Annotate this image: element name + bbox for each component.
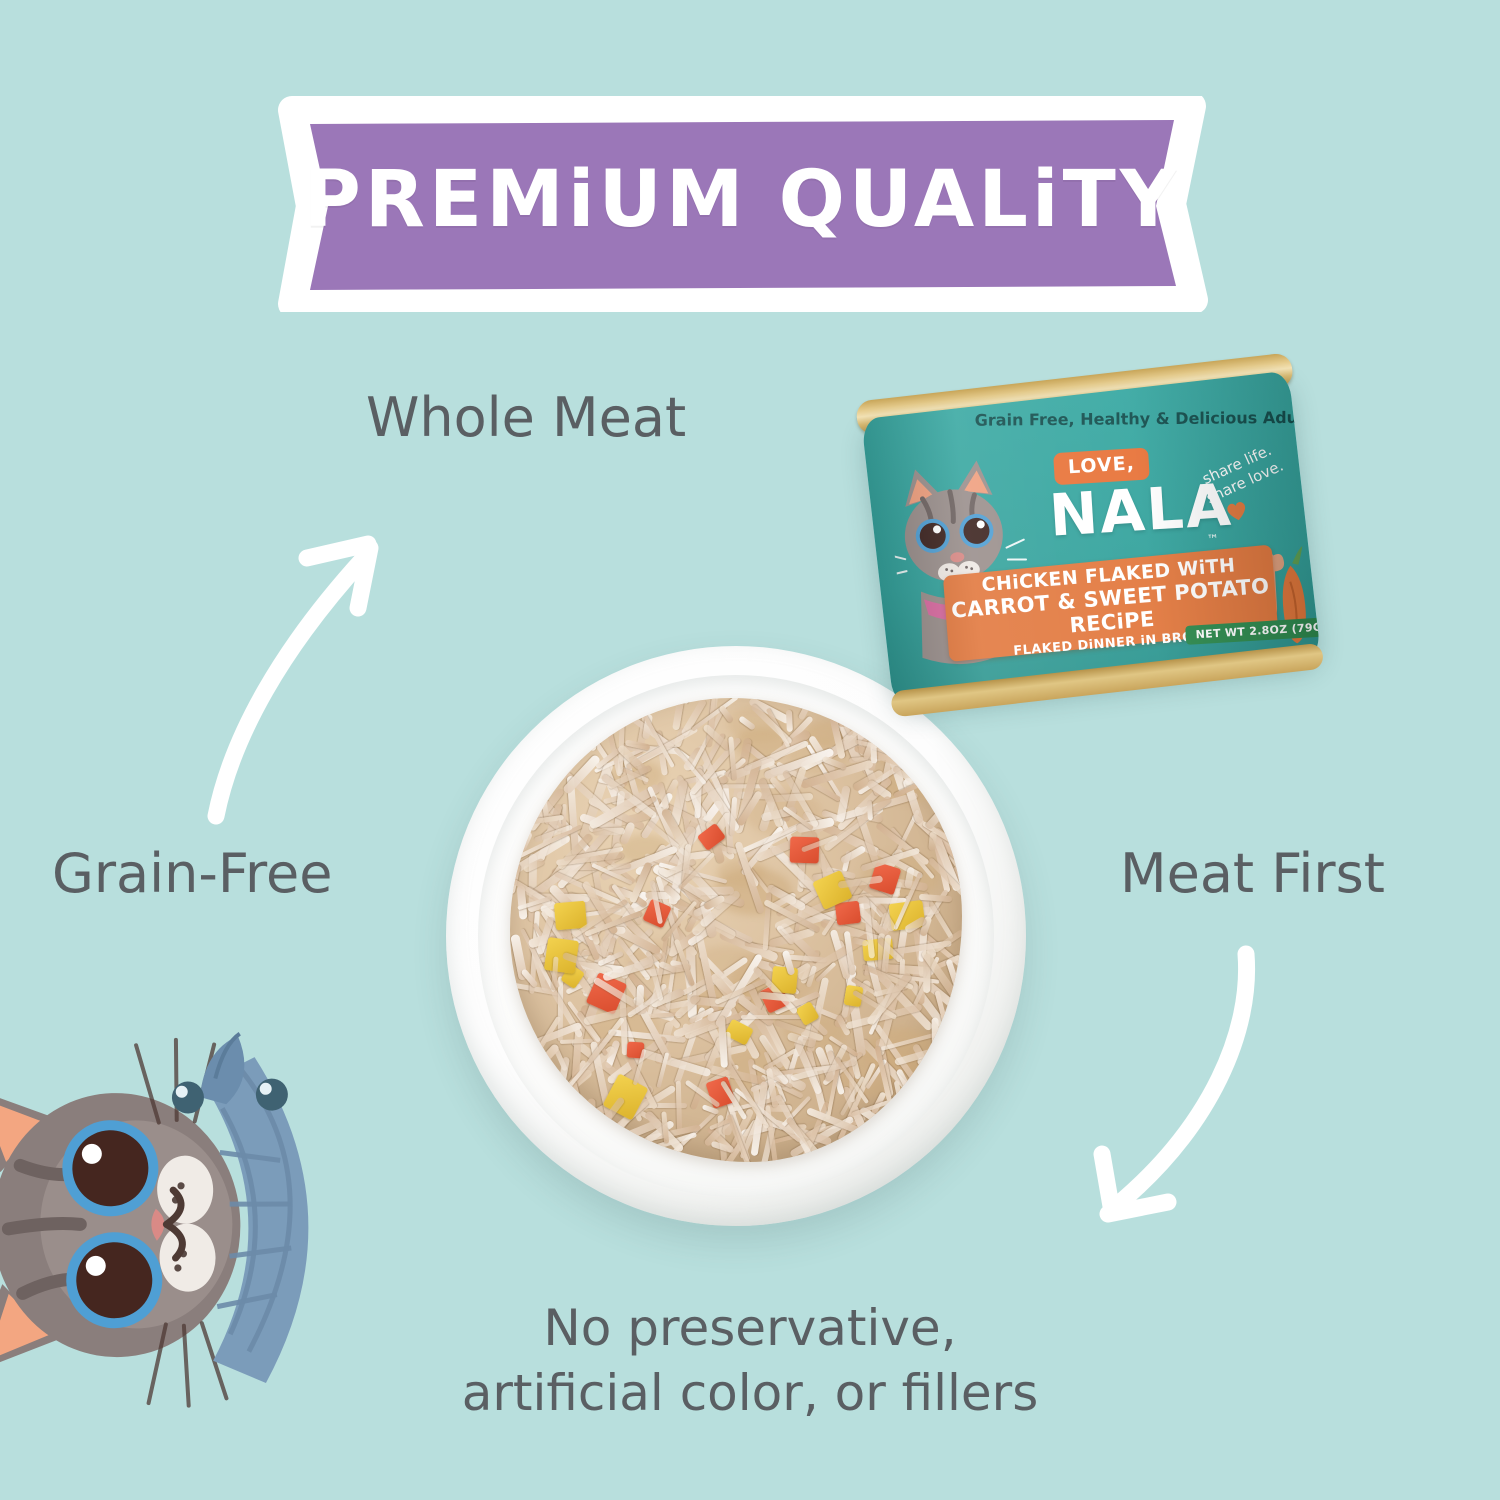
chicken-shred: [675, 1081, 681, 1131]
chicken-shred: [510, 1055, 525, 1062]
share-tagline: share life. share love.: [1196, 439, 1287, 507]
chicken-shred: [517, 1090, 524, 1116]
chicken-shred: [840, 845, 867, 864]
bowl-of-cat-food: [446, 646, 1026, 1226]
feature-label-whole-meat: Whole Meat: [366, 386, 686, 449]
chicken-shred: [510, 1102, 544, 1127]
arrow-down-left-icon: [1046, 926, 1286, 1246]
chicken-shred: [786, 709, 792, 732]
carrot-cube: [834, 901, 861, 925]
infographic-canvas: PREMiUM QUALiTY Whole Meat Grain-Free Me…: [0, 0, 1500, 1500]
premium-quality-banner: PREMiUM QUALiTY: [276, 96, 1208, 312]
arrow-up-right-icon: [186, 498, 416, 838]
trademark-symbol: ™: [1207, 532, 1220, 547]
nala-cat-mascot: [0, 993, 341, 1438]
feature-label-grain-free: Grain-Free: [52, 842, 332, 905]
food-mass: [510, 698, 962, 1162]
chicken-shred: [866, 800, 872, 820]
chicken-shred: [593, 828, 625, 836]
heart-icon: [1224, 499, 1250, 523]
product-can: Grain Free, Healthy & Delicious Adult Ca…: [848, 344, 1334, 733]
chicken-shred: [537, 741, 547, 760]
banner-title: PREMiUM QUALiTY: [276, 92, 1208, 308]
chicken-shred: [532, 703, 545, 730]
feature-label-meat-first: Meat First: [1120, 842, 1385, 905]
chicken-shred: [928, 831, 936, 851]
can-top-tagline: Grain Free, Healthy & Delicious Adult Ca…: [975, 408, 1275, 430]
